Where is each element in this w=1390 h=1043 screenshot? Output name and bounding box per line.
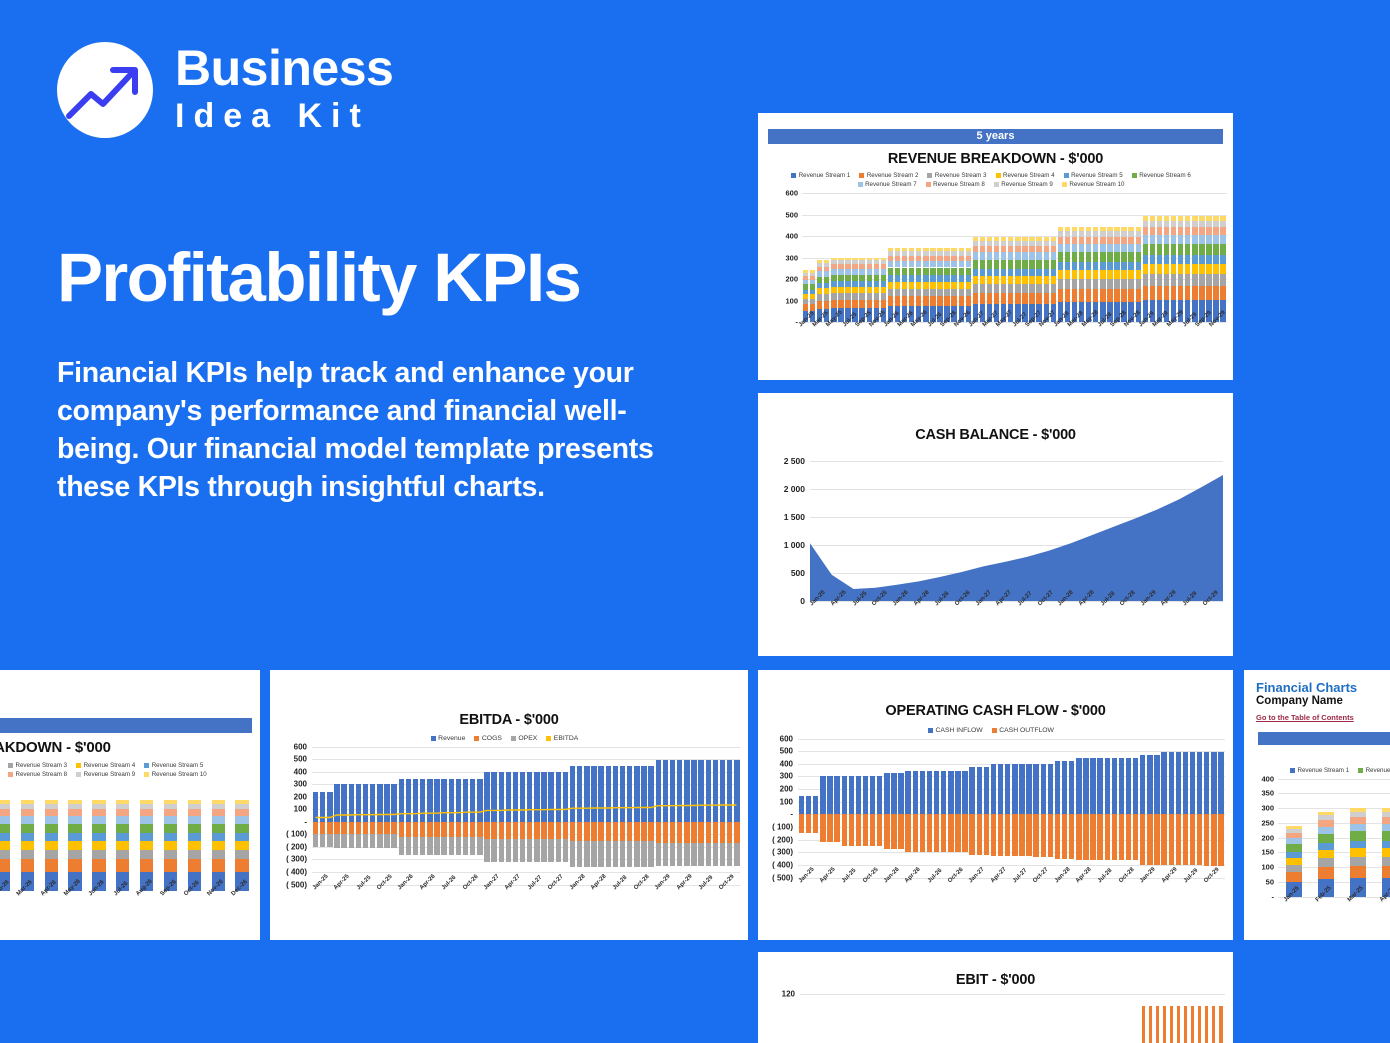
bar-segment xyxy=(1029,252,1034,259)
bar-segment xyxy=(1058,289,1063,302)
y-axis-tick: 200 xyxy=(780,785,793,794)
y-axis-tick: 50 xyxy=(1266,877,1274,886)
bar-segment xyxy=(1143,286,1148,300)
bar-segment xyxy=(959,282,964,289)
bar-segment xyxy=(987,237,992,241)
bar-segment xyxy=(803,304,808,311)
bar-segment xyxy=(1015,276,1020,284)
bar-segment xyxy=(1199,264,1204,274)
chart-card-financial-charts-sheet[interactable]: Financial Charts Company Name Go to the … xyxy=(1244,670,1390,940)
bar-segment xyxy=(909,251,914,255)
bar-column xyxy=(984,994,991,1043)
bar-segment xyxy=(1001,246,1006,252)
bar-segment xyxy=(1171,274,1176,285)
bar-column xyxy=(1135,193,1142,322)
bar-column xyxy=(15,785,39,891)
bar-column xyxy=(1113,193,1120,322)
bar-segment xyxy=(817,277,822,284)
bar-segment xyxy=(1001,276,1006,284)
bar-segment xyxy=(867,260,872,264)
x-axis-tick: Sep-26 xyxy=(159,893,183,894)
chart-title: REVENUE BREAKDOWN - $'000 xyxy=(758,151,1233,167)
legend-label: Revenue Stream 5 xyxy=(152,762,204,769)
bar-segment xyxy=(1178,274,1183,285)
bar-segment xyxy=(1015,246,1020,252)
bar-segment xyxy=(888,289,893,297)
y-axis-tick: ( 200) xyxy=(286,842,307,851)
brand-name-primary: Business xyxy=(175,43,393,93)
bar-segment-cash-outflow xyxy=(1140,814,1145,864)
y-axis-tick: - xyxy=(1272,892,1275,901)
bar-segment xyxy=(212,816,225,824)
bar-segment-cash-outflow xyxy=(1026,814,1031,856)
bar-column xyxy=(1090,994,1097,1043)
bar-column xyxy=(1175,739,1182,878)
bar-column xyxy=(206,785,230,891)
bar-segment xyxy=(1079,237,1084,244)
x-axis-tick: Apr-25 xyxy=(1374,899,1390,900)
x-axis-tick: Jul-29 xyxy=(697,887,718,888)
x-axis-tick: May-26 xyxy=(63,893,87,894)
chart-card-revenue-breakdown-24m[interactable]: 24 months REVENUE BREAKDOWN - $'000 Reve… xyxy=(0,670,260,940)
bar-column xyxy=(1089,739,1096,878)
legend-item: COGS xyxy=(474,735,502,742)
table-of-contents-link[interactable]: Go to the Table of Contents xyxy=(1256,713,1354,722)
bar-column xyxy=(1055,994,1062,1043)
bar-segment xyxy=(803,284,808,289)
x-axis-tick: Oct-28 xyxy=(633,887,654,888)
bar-segment xyxy=(188,850,201,860)
period-band xyxy=(1258,732,1390,745)
bar-segment xyxy=(1199,227,1204,235)
bar-segment xyxy=(1318,858,1334,867)
bar-column xyxy=(1034,994,1041,1043)
bar-segment xyxy=(859,269,864,274)
bar-segment-cash-outflow xyxy=(813,814,818,833)
bar-column xyxy=(1121,193,1128,322)
bar-segment xyxy=(1143,221,1148,227)
bar-segment xyxy=(188,816,201,824)
x-axis-tick: Jan-27 xyxy=(969,880,990,881)
bar-segment-cash-inflow xyxy=(920,771,925,815)
bar-segment xyxy=(212,804,225,809)
chart-card-ebitda[interactable]: EBITDA - $'000 RevenueCOGSOPEXEBITDA 600… xyxy=(270,670,748,940)
bar-segment xyxy=(874,275,879,282)
bar-segment xyxy=(944,251,949,255)
legend-swatch xyxy=(859,173,864,178)
bar-segment xyxy=(1072,262,1077,270)
bar-segment xyxy=(1058,270,1063,279)
bar-segment xyxy=(1213,221,1218,227)
bar-segment xyxy=(1157,227,1162,235)
bar-column xyxy=(1310,779,1342,897)
bar-column xyxy=(1139,739,1146,878)
bar-segment xyxy=(980,269,985,276)
bar-segment xyxy=(831,264,836,269)
bar-segment-cash-inflow xyxy=(998,764,1003,814)
y-axis-tick: ( 300) xyxy=(772,848,793,857)
legend-item: Revenue Stream 6 xyxy=(1358,767,1390,774)
bar-segment xyxy=(973,241,978,246)
bar-column xyxy=(1007,193,1014,322)
bar-segment xyxy=(944,248,949,251)
bar-segment-ebit xyxy=(1177,1006,1180,1043)
bar-column xyxy=(1104,994,1111,1043)
bar-segment xyxy=(1178,227,1183,235)
x-axis-tick: Apr-28 xyxy=(1079,603,1100,604)
bar-column xyxy=(1078,193,1085,322)
legend-swatch xyxy=(144,763,149,768)
x-axis-tick: Jul-28 xyxy=(1099,603,1120,604)
legend-swatch xyxy=(927,173,932,178)
x-axis-labels: Jan-25Mar-25May-25Jul-25Sep-25Nov-25Jan-… xyxy=(802,324,1227,325)
x-axis-tick: Jul-28 xyxy=(1097,880,1118,881)
bar-segment-cash-outflow xyxy=(969,814,974,855)
bar-segment xyxy=(1128,237,1133,244)
bar-segment-cash-inflow xyxy=(1197,752,1202,814)
x-axis-tick: Apr-26 xyxy=(905,880,926,881)
bar-segment xyxy=(1072,289,1077,302)
bar-segment xyxy=(838,275,843,282)
bar-segment xyxy=(1185,235,1190,244)
bar-segment xyxy=(1136,252,1141,262)
x-axis-tick: Jan-25 xyxy=(1278,899,1310,900)
y-axis-tick: 500 xyxy=(791,568,805,578)
bar-segment-cash-outflow xyxy=(1183,814,1188,865)
bar-column xyxy=(876,739,883,878)
bar-segment-cash-inflow xyxy=(870,776,875,814)
bar-column xyxy=(929,193,936,322)
bar-column xyxy=(906,994,913,1043)
bar-column xyxy=(1061,739,1068,878)
bar-segment xyxy=(859,275,864,282)
bar-column xyxy=(87,785,111,891)
y-axis-tick: 100 xyxy=(785,296,798,305)
chart-card-revenue-breakdown-5y[interactable]: 5 years REVENUE BREAKDOWN - $'000 Revenu… xyxy=(758,113,1233,380)
bar-column xyxy=(1071,193,1078,322)
bar-column xyxy=(1205,193,1212,322)
bar-column xyxy=(807,994,814,1043)
bar-segment xyxy=(45,804,58,809)
bar-column xyxy=(1027,994,1034,1043)
bar-column xyxy=(230,785,254,891)
bar-column xyxy=(934,994,941,1043)
bar-segment xyxy=(1350,857,1366,866)
bar-segment xyxy=(1192,264,1197,274)
bar-segment xyxy=(1036,260,1041,269)
bar-segment xyxy=(1072,252,1077,262)
bar-column xyxy=(39,785,63,891)
bar-segment xyxy=(188,859,201,871)
x-axis-tick: Apr-26 xyxy=(913,603,934,604)
bar-segment xyxy=(45,859,58,871)
bar-column xyxy=(1278,779,1310,897)
x-axis-tick: Oct-28 xyxy=(1118,880,1139,881)
bar-segment xyxy=(45,800,58,804)
bar-segment xyxy=(1008,246,1013,252)
bar-segment xyxy=(1286,865,1302,872)
y-axis-tick: 300 xyxy=(785,253,798,262)
bar-segment xyxy=(1100,237,1105,244)
bar-segment xyxy=(1178,221,1183,227)
gridline xyxy=(1278,897,1390,898)
bar-segment xyxy=(92,816,105,824)
bar-segment xyxy=(824,301,829,309)
bar-column xyxy=(1168,739,1175,878)
bar-segment xyxy=(164,859,177,871)
bar-segment xyxy=(1121,227,1126,231)
bar-segment xyxy=(1136,262,1141,270)
bar-segment xyxy=(1114,227,1119,231)
x-axis-tick: Apr-28 xyxy=(590,887,611,888)
bar-segment xyxy=(824,271,829,276)
bar-segment xyxy=(1072,244,1077,252)
bar-segment xyxy=(1008,241,1013,246)
bar-segment xyxy=(881,287,886,293)
bar-column xyxy=(159,785,183,891)
bar-segment-cash-outflow xyxy=(948,814,953,852)
bar-segment-cash-outflow xyxy=(1076,814,1081,859)
y-axis-tick: 300 xyxy=(1261,804,1274,813)
legend-label: Revenue Stream 7 xyxy=(865,181,917,188)
bar-segment xyxy=(944,268,949,276)
bar-segment-cash-inflow xyxy=(799,796,804,815)
bar-segment xyxy=(21,804,34,809)
bar-segment xyxy=(838,293,843,300)
bar-column xyxy=(883,739,890,878)
bar-column xyxy=(1119,994,1126,1043)
bar-segment xyxy=(1171,227,1176,235)
bar-segment-cash-outflow xyxy=(991,814,996,856)
bar-segment xyxy=(874,293,879,300)
bar-column xyxy=(1036,193,1043,322)
bar-segment xyxy=(21,816,34,824)
bar-segment xyxy=(1100,270,1105,279)
bar-segment xyxy=(1220,274,1225,285)
bar-segment xyxy=(859,287,864,293)
bar-segment xyxy=(1136,270,1141,279)
bar-segment xyxy=(852,264,857,269)
bar-segment-cash-inflow xyxy=(849,776,854,814)
bar-segment xyxy=(1178,286,1183,300)
bar-segment xyxy=(1382,808,1390,812)
bar-segment xyxy=(1093,227,1098,231)
bar-segment xyxy=(164,800,177,804)
bar-segment xyxy=(951,296,956,306)
chart-card-operating-cash-flow[interactable]: OPERATING CASH FLOW - $'000 CASH INFLOWC… xyxy=(758,670,1233,940)
y-axis-tick: 300 xyxy=(780,772,793,781)
bar-segment xyxy=(923,296,928,306)
legend-swatch xyxy=(1064,173,1069,178)
chart-card-ebit[interactable]: EBIT - $'000 12010080 xyxy=(758,952,1233,1043)
legend-label: Revenue xyxy=(438,735,465,742)
x-axis-tick: Jan-28 xyxy=(1054,880,1075,881)
bar-segment xyxy=(1065,231,1070,237)
bar-segment xyxy=(902,251,907,255)
bar-segment xyxy=(959,251,964,255)
bar-segment xyxy=(1086,244,1091,252)
bar-segment xyxy=(803,276,808,280)
bar-segment-cash-inflow xyxy=(1105,758,1110,814)
bar-segment-cash-inflow xyxy=(1183,752,1188,814)
bar-segment xyxy=(1143,235,1148,244)
bar-column xyxy=(1111,739,1118,878)
chart-plot-area: 2 5002 0001 5001 0005000 xyxy=(810,461,1223,601)
bar-segment xyxy=(852,287,857,293)
bar-segment-ebit xyxy=(1205,1006,1208,1043)
bar-segment-cash-inflow xyxy=(941,771,946,815)
bar-segment xyxy=(966,296,971,306)
bar-column xyxy=(949,994,956,1043)
bar-column xyxy=(135,785,159,891)
bar-segment-cash-inflow xyxy=(955,771,960,815)
bar-segment xyxy=(1164,227,1169,235)
bar-segment-cash-inflow xyxy=(877,776,882,814)
bar-segment xyxy=(845,275,850,282)
bar-segment xyxy=(1121,262,1126,270)
bar-segment xyxy=(1178,216,1183,221)
legend-label: Revenue Stream 1 xyxy=(1298,767,1350,774)
bar-segment-cash-outflow xyxy=(806,814,811,833)
bar-segment xyxy=(881,281,886,286)
bar-column xyxy=(920,994,927,1043)
bar-segment xyxy=(852,269,857,274)
bar-segment-cash-inflow xyxy=(1176,752,1181,814)
legend-item: EBITDA xyxy=(546,735,578,742)
legend-label: Revenue Stream 5 xyxy=(1071,172,1123,179)
legend-swatch xyxy=(431,736,436,741)
bar-column xyxy=(915,193,922,322)
x-axis-tick: Oct-26 xyxy=(462,887,483,888)
bar-segment-cash-inflow xyxy=(1069,761,1074,815)
bar-segment xyxy=(1015,237,1020,241)
bar-segment xyxy=(845,260,850,264)
chart-title: EBITDA - $'000 xyxy=(270,712,748,728)
bar-segment xyxy=(1157,244,1162,255)
bar-segment-cash-inflow xyxy=(1012,764,1017,814)
bar-segment-cash-inflow xyxy=(1005,764,1010,814)
x-axis-tick: Jul-26 xyxy=(440,887,461,888)
bar-segment xyxy=(944,261,949,267)
bar-column xyxy=(1161,994,1168,1043)
bar-segment xyxy=(937,256,942,262)
chart-card-cash-balance[interactable]: CASH BALANCE - $'000 2 5002 0001 5001 00… xyxy=(758,393,1233,656)
bar-segment xyxy=(987,241,992,246)
bar-segment xyxy=(831,260,836,264)
bar-segment xyxy=(1029,241,1034,246)
bar-column xyxy=(1011,739,1018,878)
legend-item: Revenue Stream 10 xyxy=(1062,181,1125,188)
y-axis-tick: - xyxy=(796,318,799,327)
x-axis-tick: Jan-27 xyxy=(975,603,996,604)
bar-segment xyxy=(944,289,949,297)
bar-segment-cash-inflow xyxy=(1090,758,1095,814)
bar-segment xyxy=(92,824,105,834)
bar-segment xyxy=(212,850,225,860)
bar-segment-cash-inflow xyxy=(1076,758,1081,814)
bar-segment xyxy=(867,293,872,300)
x-axis-tick: Apr-27 xyxy=(505,887,526,888)
bar-segment xyxy=(831,275,836,282)
bar-segment xyxy=(1100,289,1105,302)
bar-segment xyxy=(881,293,886,300)
bar-segment xyxy=(1086,262,1091,270)
x-axis-tick: Dec-26 xyxy=(230,893,254,894)
legend-item: Revenue Stream 4 xyxy=(76,762,135,769)
bar-segment-cash-outflow xyxy=(1119,814,1124,860)
x-axis-tick: Jul-28 xyxy=(612,887,633,888)
bar-segment xyxy=(1107,227,1112,231)
bar-segment xyxy=(1029,269,1034,276)
bar-segment xyxy=(966,256,971,262)
bar-column xyxy=(1005,994,1012,1043)
bar-segment xyxy=(1107,244,1112,252)
bar-column xyxy=(1182,739,1189,878)
bar-segment xyxy=(803,290,808,294)
bar-segment xyxy=(92,809,105,816)
bar-segment xyxy=(1136,279,1141,289)
bar-segment xyxy=(902,282,907,289)
bar-column xyxy=(1075,739,1082,878)
bar-segment xyxy=(45,824,58,834)
bar-segment xyxy=(1100,244,1105,252)
bar-segment xyxy=(140,824,153,834)
bar-segment-cash-outflow xyxy=(1097,814,1102,860)
bar-segment xyxy=(980,284,985,293)
bar-segment xyxy=(895,251,900,255)
bar-segment xyxy=(874,260,879,264)
bar-segment xyxy=(1199,255,1204,264)
bar-segment xyxy=(1178,244,1183,255)
bar-column xyxy=(1191,193,1198,322)
bar-segment xyxy=(1079,227,1084,231)
bar-segment-cash-inflow xyxy=(1204,752,1209,814)
x-axis-tick: Oct-25 xyxy=(872,603,893,604)
x-axis-tick: Apr-29 xyxy=(1161,603,1182,604)
bar-segment xyxy=(959,248,964,251)
bar-segment xyxy=(1150,235,1155,244)
bar-segment-ebit xyxy=(1184,1006,1187,1043)
bar-segment xyxy=(923,282,928,289)
bar-column xyxy=(842,994,849,1043)
legend-swatch xyxy=(8,772,13,777)
bar-segment xyxy=(1036,246,1041,252)
bar-column xyxy=(1104,739,1111,878)
bar-column xyxy=(835,994,842,1043)
bar-segment xyxy=(1065,227,1070,231)
bar-segment xyxy=(859,260,864,264)
bar-segment xyxy=(1036,241,1041,246)
bar-segment xyxy=(944,282,949,289)
bar-segment xyxy=(1029,246,1034,252)
bar-segment-cash-inflow xyxy=(856,776,861,814)
legend-item: Revenue Stream 9 xyxy=(76,771,135,778)
bar-segment xyxy=(1350,808,1366,812)
bar-segment xyxy=(1065,252,1070,262)
bar-segment xyxy=(1121,270,1126,279)
bar-segment xyxy=(1199,235,1204,244)
bar-column xyxy=(1189,739,1196,878)
y-axis-tick: 100 xyxy=(294,805,307,814)
bar-column xyxy=(1082,739,1089,878)
bar-segment xyxy=(92,804,105,809)
legend-item: CASH OUTFLOW xyxy=(992,727,1054,734)
bar-column xyxy=(828,994,835,1043)
bar-segment xyxy=(937,296,942,306)
bar-segment xyxy=(1044,237,1049,241)
bar-segment-cash-outflow xyxy=(998,814,1003,856)
bar-segment xyxy=(116,841,129,850)
